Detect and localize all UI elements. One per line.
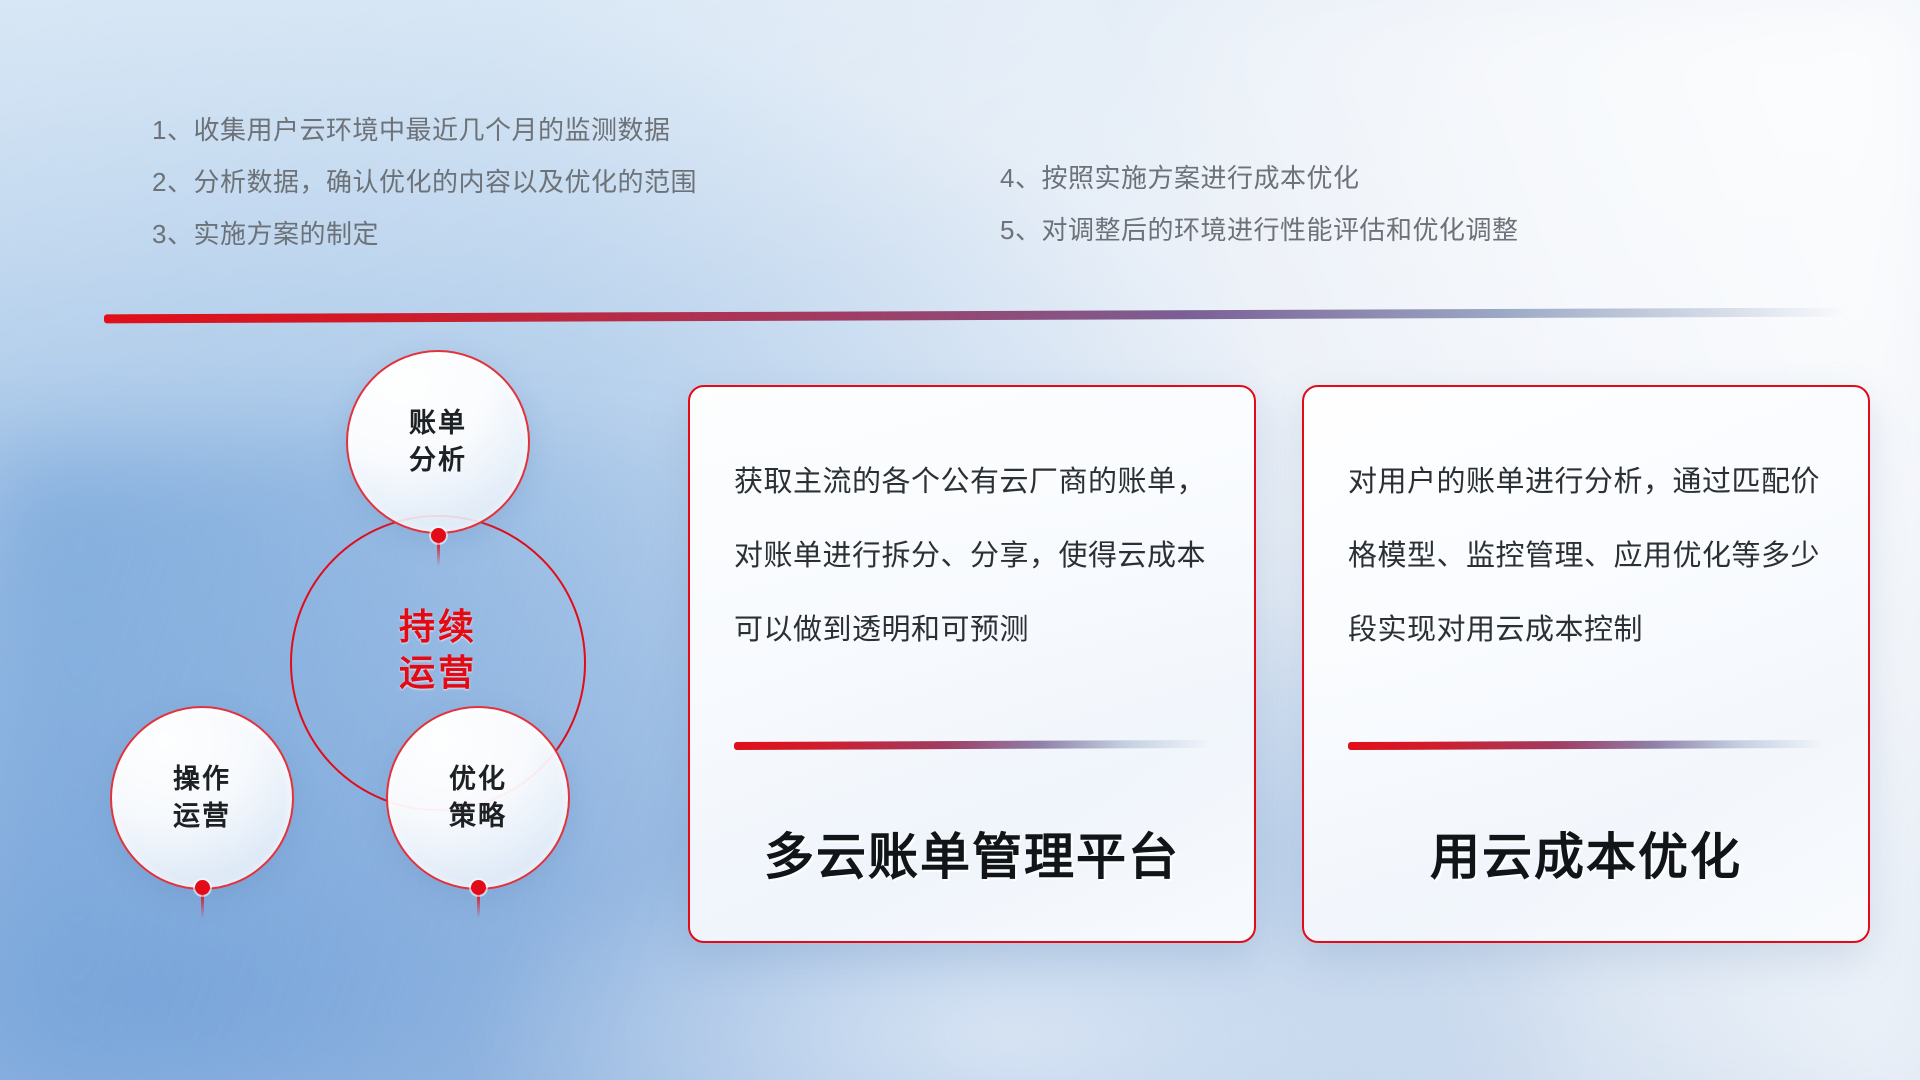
card-body-text: 对用户的账单进行分析，通过匹配价格模型、监控管理、应用优化等多少段实现对用云成本… (1348, 445, 1824, 723)
bullet-item-3: 3、实施方案的制定 (152, 208, 697, 260)
card-divider-rule (1348, 740, 1824, 750)
node-dot-right (471, 880, 486, 895)
continuous-operations-diagram: 持续 运营 账单 分析 操作 运营 优化 策略 (96, 350, 656, 950)
card-divider-rule (734, 740, 1210, 750)
card-body-text: 获取主流的各个公有云厂商的账单，对账单进行拆分、分享，使得云成本可以做到透明和可… (734, 445, 1210, 723)
node-dot-left (195, 880, 210, 895)
node-label-line-2: 策略 (449, 798, 507, 835)
diagram-node-operations[interactable]: 操作 运营 (110, 706, 294, 890)
bullet-item-4: 4、按照实施方案进行成本优化 (1000, 152, 1518, 204)
card-multi-cloud-billing-platform[interactable]: 获取主流的各个公有云厂商的账单，对账单进行拆分、分享，使得云成本可以做到透明和可… (688, 385, 1256, 943)
diagram-center-label: 持续 运营 (348, 604, 528, 696)
node-stem-right (477, 892, 480, 918)
node-label-line-2: 运营 (173, 798, 231, 835)
bullet-list-left: 1、收集用户云环境中最近几个月的监测数据 2、分析数据，确认优化的内容以及优化的… (152, 104, 697, 260)
card-title: 多云账单管理平台 (734, 817, 1210, 889)
card-cloud-cost-optimization[interactable]: 对用户的账单进行分析，通过匹配价格模型、监控管理、应用优化等多少段实现对用云成本… (1302, 385, 1870, 943)
diagram-node-optimization-policy[interactable]: 优化 策略 (386, 706, 570, 890)
center-label-line-1: 持续 (348, 604, 528, 650)
bullet-item-2: 2、分析数据，确认优化的内容以及优化的范围 (152, 156, 697, 208)
center-label-line-2: 运营 (348, 650, 528, 696)
card-title: 用云成本优化 (1348, 817, 1824, 889)
node-stem-left (201, 892, 204, 918)
node-label-line-1: 账单 (409, 405, 467, 442)
node-stem-top (437, 540, 440, 566)
node-label-line-1: 优化 (449, 761, 507, 798)
node-dot-top (431, 528, 446, 543)
bullet-item-1: 1、收集用户云环境中最近几个月的监测数据 (152, 104, 697, 156)
node-label-line-1: 操作 (173, 761, 231, 798)
bullet-list-right: 4、按照实施方案进行成本优化 5、对调整后的环境进行性能评估和优化调整 (1000, 152, 1518, 256)
diagram-node-bill-analysis[interactable]: 账单 分析 (346, 350, 530, 534)
node-label-line-2: 分析 (409, 442, 467, 479)
bullet-item-5: 5、对调整后的环境进行性能评估和优化调整 (1000, 204, 1518, 256)
